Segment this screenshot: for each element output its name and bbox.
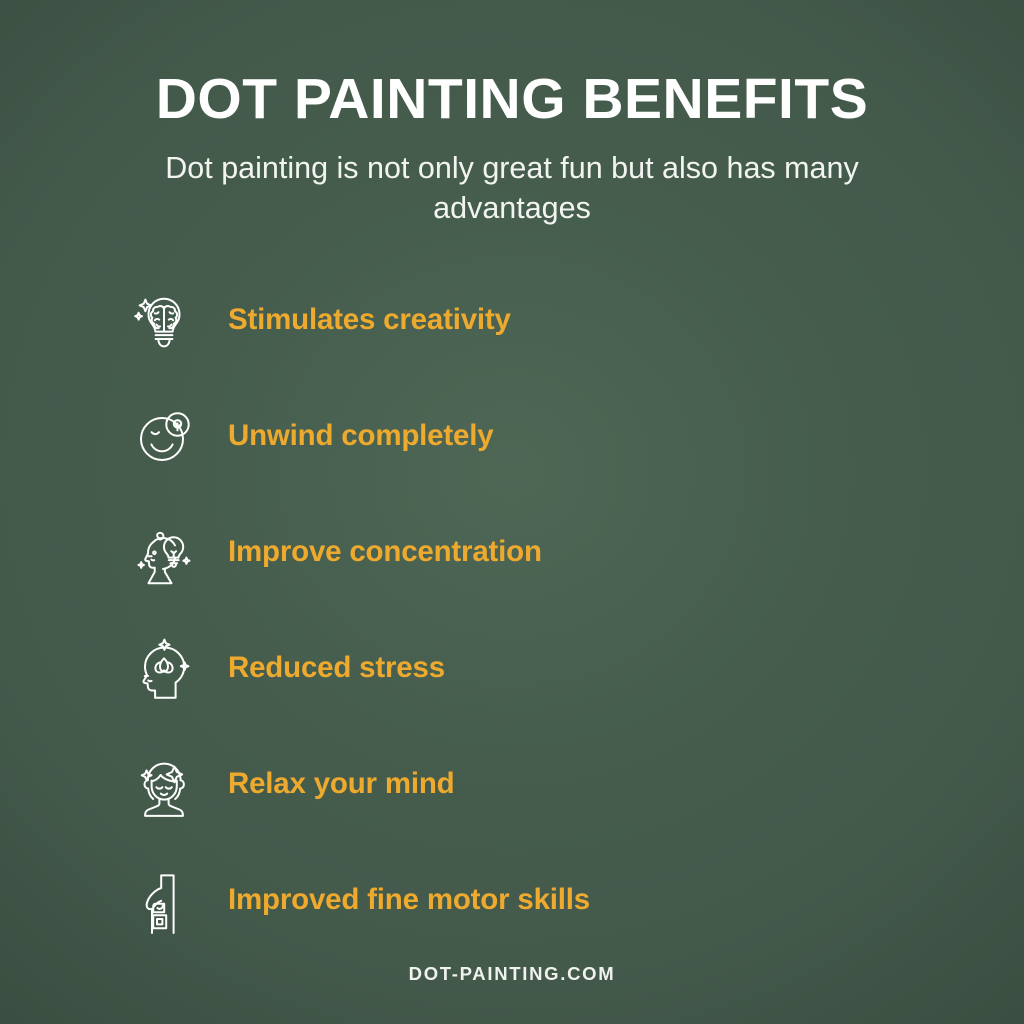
poster: DOT PAINTING BENEFITS Dot painting is no… — [0, 0, 1024, 1024]
benefit-label: Unwind completely — [228, 419, 493, 453]
head-profile-lightbulb-icon — [133, 515, 195, 589]
benefit-label: Improve concentration — [228, 535, 542, 569]
benefit-label: Improved fine motor skills — [228, 883, 590, 917]
list-item: Relax your mind — [133, 726, 953, 842]
benefit-label: Relax your mind — [228, 767, 455, 801]
footer: DOT-PAINTING.COM — [0, 963, 1024, 985]
brain-lightbulb-icon — [133, 283, 195, 357]
head-lotus-icon — [133, 631, 195, 705]
page-subtitle: Dot painting is not only great fun but a… — [147, 148, 877, 229]
poster-content: DOT PAINTING BENEFITS Dot painting is no… — [0, 0, 1024, 1024]
benefits-list: Stimulates creativity — [133, 262, 953, 958]
list-item: Reduced stress — [133, 610, 953, 726]
hand-holding-block-icon — [133, 863, 195, 937]
list-item: Stimulates creativity — [133, 262, 953, 378]
header: DOT PAINTING BENEFITS Dot painting is no… — [0, 68, 1024, 228]
smiley-face-flower-icon — [133, 399, 195, 473]
benefit-label: Stimulates creativity — [228, 303, 511, 337]
list-item: Unwind completely — [133, 378, 953, 494]
website-url[interactable]: DOT-PAINTING.COM — [409, 963, 616, 984]
page-title: DOT PAINTING BENEFITS — [0, 68, 1024, 131]
benefit-label: Reduced stress — [228, 651, 445, 685]
list-item: Improve concentration — [133, 494, 953, 610]
relaxed-face-stars-icon — [133, 747, 195, 821]
list-item: Improved fine motor skills — [133, 842, 953, 958]
